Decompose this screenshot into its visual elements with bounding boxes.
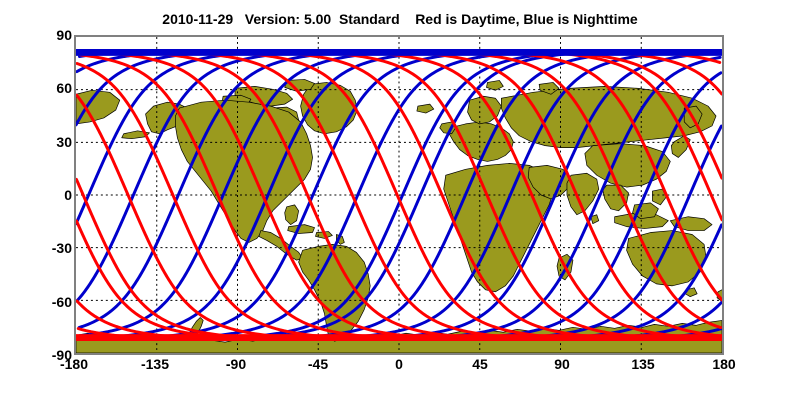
x-tick-180: 180 — [694, 357, 754, 371]
x-tick--135: -135 — [125, 357, 185, 371]
x-tick-45: 45 — [450, 357, 510, 371]
chart-title: 2010-11-29 Version: 5.00 Standard Red is… — [0, 11, 800, 27]
y-tick-30: 30 — [12, 135, 72, 149]
x-tick--180: -180 — [44, 357, 104, 371]
y-tick--60: -60 — [12, 295, 72, 309]
x-tick-0: 0 — [369, 357, 429, 371]
y-tick--30: -30 — [12, 241, 72, 255]
y-tick-90: 90 — [12, 28, 72, 42]
x-tick--45: -45 — [288, 357, 348, 371]
x-tick--90: -90 — [206, 357, 266, 371]
y-tick-0: 0 — [12, 188, 72, 202]
plot-area — [74, 35, 724, 355]
map-canvas — [76, 37, 722, 353]
satellite-ground-track-figure: 2010-11-29 Version: 5.00 Standard Red is… — [0, 0, 800, 400]
y-tick-60: 60 — [12, 81, 72, 95]
x-tick-135: 135 — [613, 357, 673, 371]
x-tick-90: 90 — [532, 357, 592, 371]
